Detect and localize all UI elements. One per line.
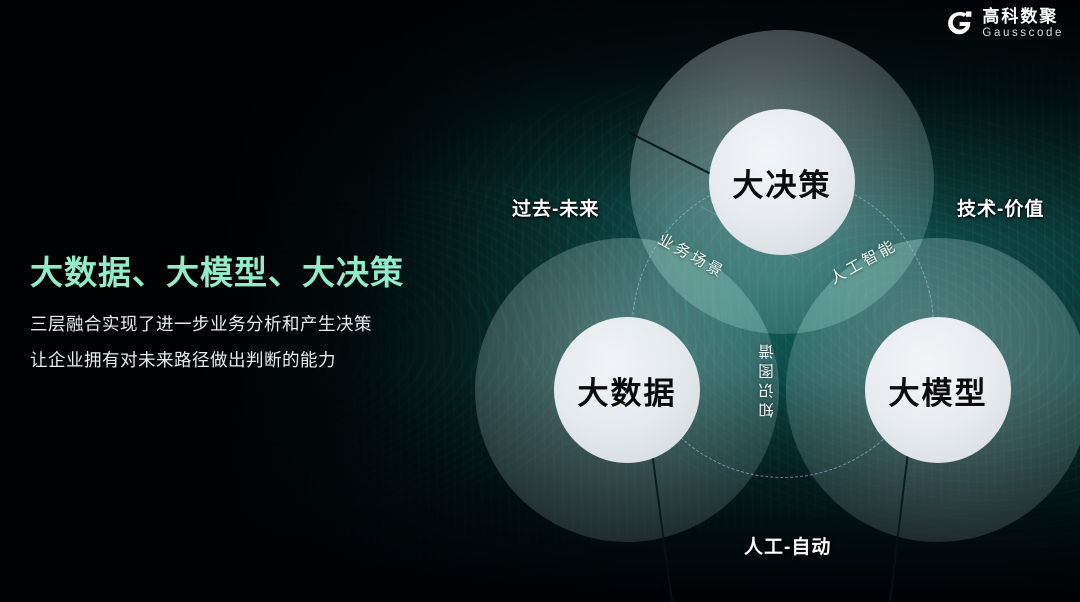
axis-label-past-future: 过去-未来	[512, 194, 599, 221]
venn-core-decision[interactable]: 大决策	[709, 109, 855, 255]
venn-core-bigdata-label: 大数据	[578, 368, 677, 413]
gausscode-g-logo-icon	[946, 10, 973, 37]
venn-core-decision-label: 大决策	[733, 160, 832, 205]
brand-logo-text: 高科数聚 Gausscode	[982, 8, 1064, 40]
brand-name-en: Gausscode	[982, 28, 1064, 40]
slide-canvas: 大数据、大模型、大决策 三层融合实现了进一步业务分析和产生决策 让企业拥有对未来…	[0, 0, 1080, 602]
axis-label-tech-value: 技术-价值	[957, 194, 1044, 221]
venn-core-bigmodel-label: 大模型	[889, 368, 988, 413]
venn-core-bigmodel[interactable]: 大模型	[865, 317, 1011, 463]
venn-core-bigdata[interactable]: 大数据	[554, 317, 700, 463]
brand-name-cn: 高科数聚	[982, 8, 1064, 25]
overlap-label-knowledge-graph: 知识图谱	[757, 340, 797, 418]
axis-label-manual-auto: 人工-自动	[744, 532, 831, 559]
venn-diagram: 大决策 大数据 大模型 业务场景 人工智能 知识图谱 过去-未来 技术-价值 人…	[0, 0, 1080, 602]
brand-logo: 高科数聚 Gausscode	[946, 8, 1064, 40]
